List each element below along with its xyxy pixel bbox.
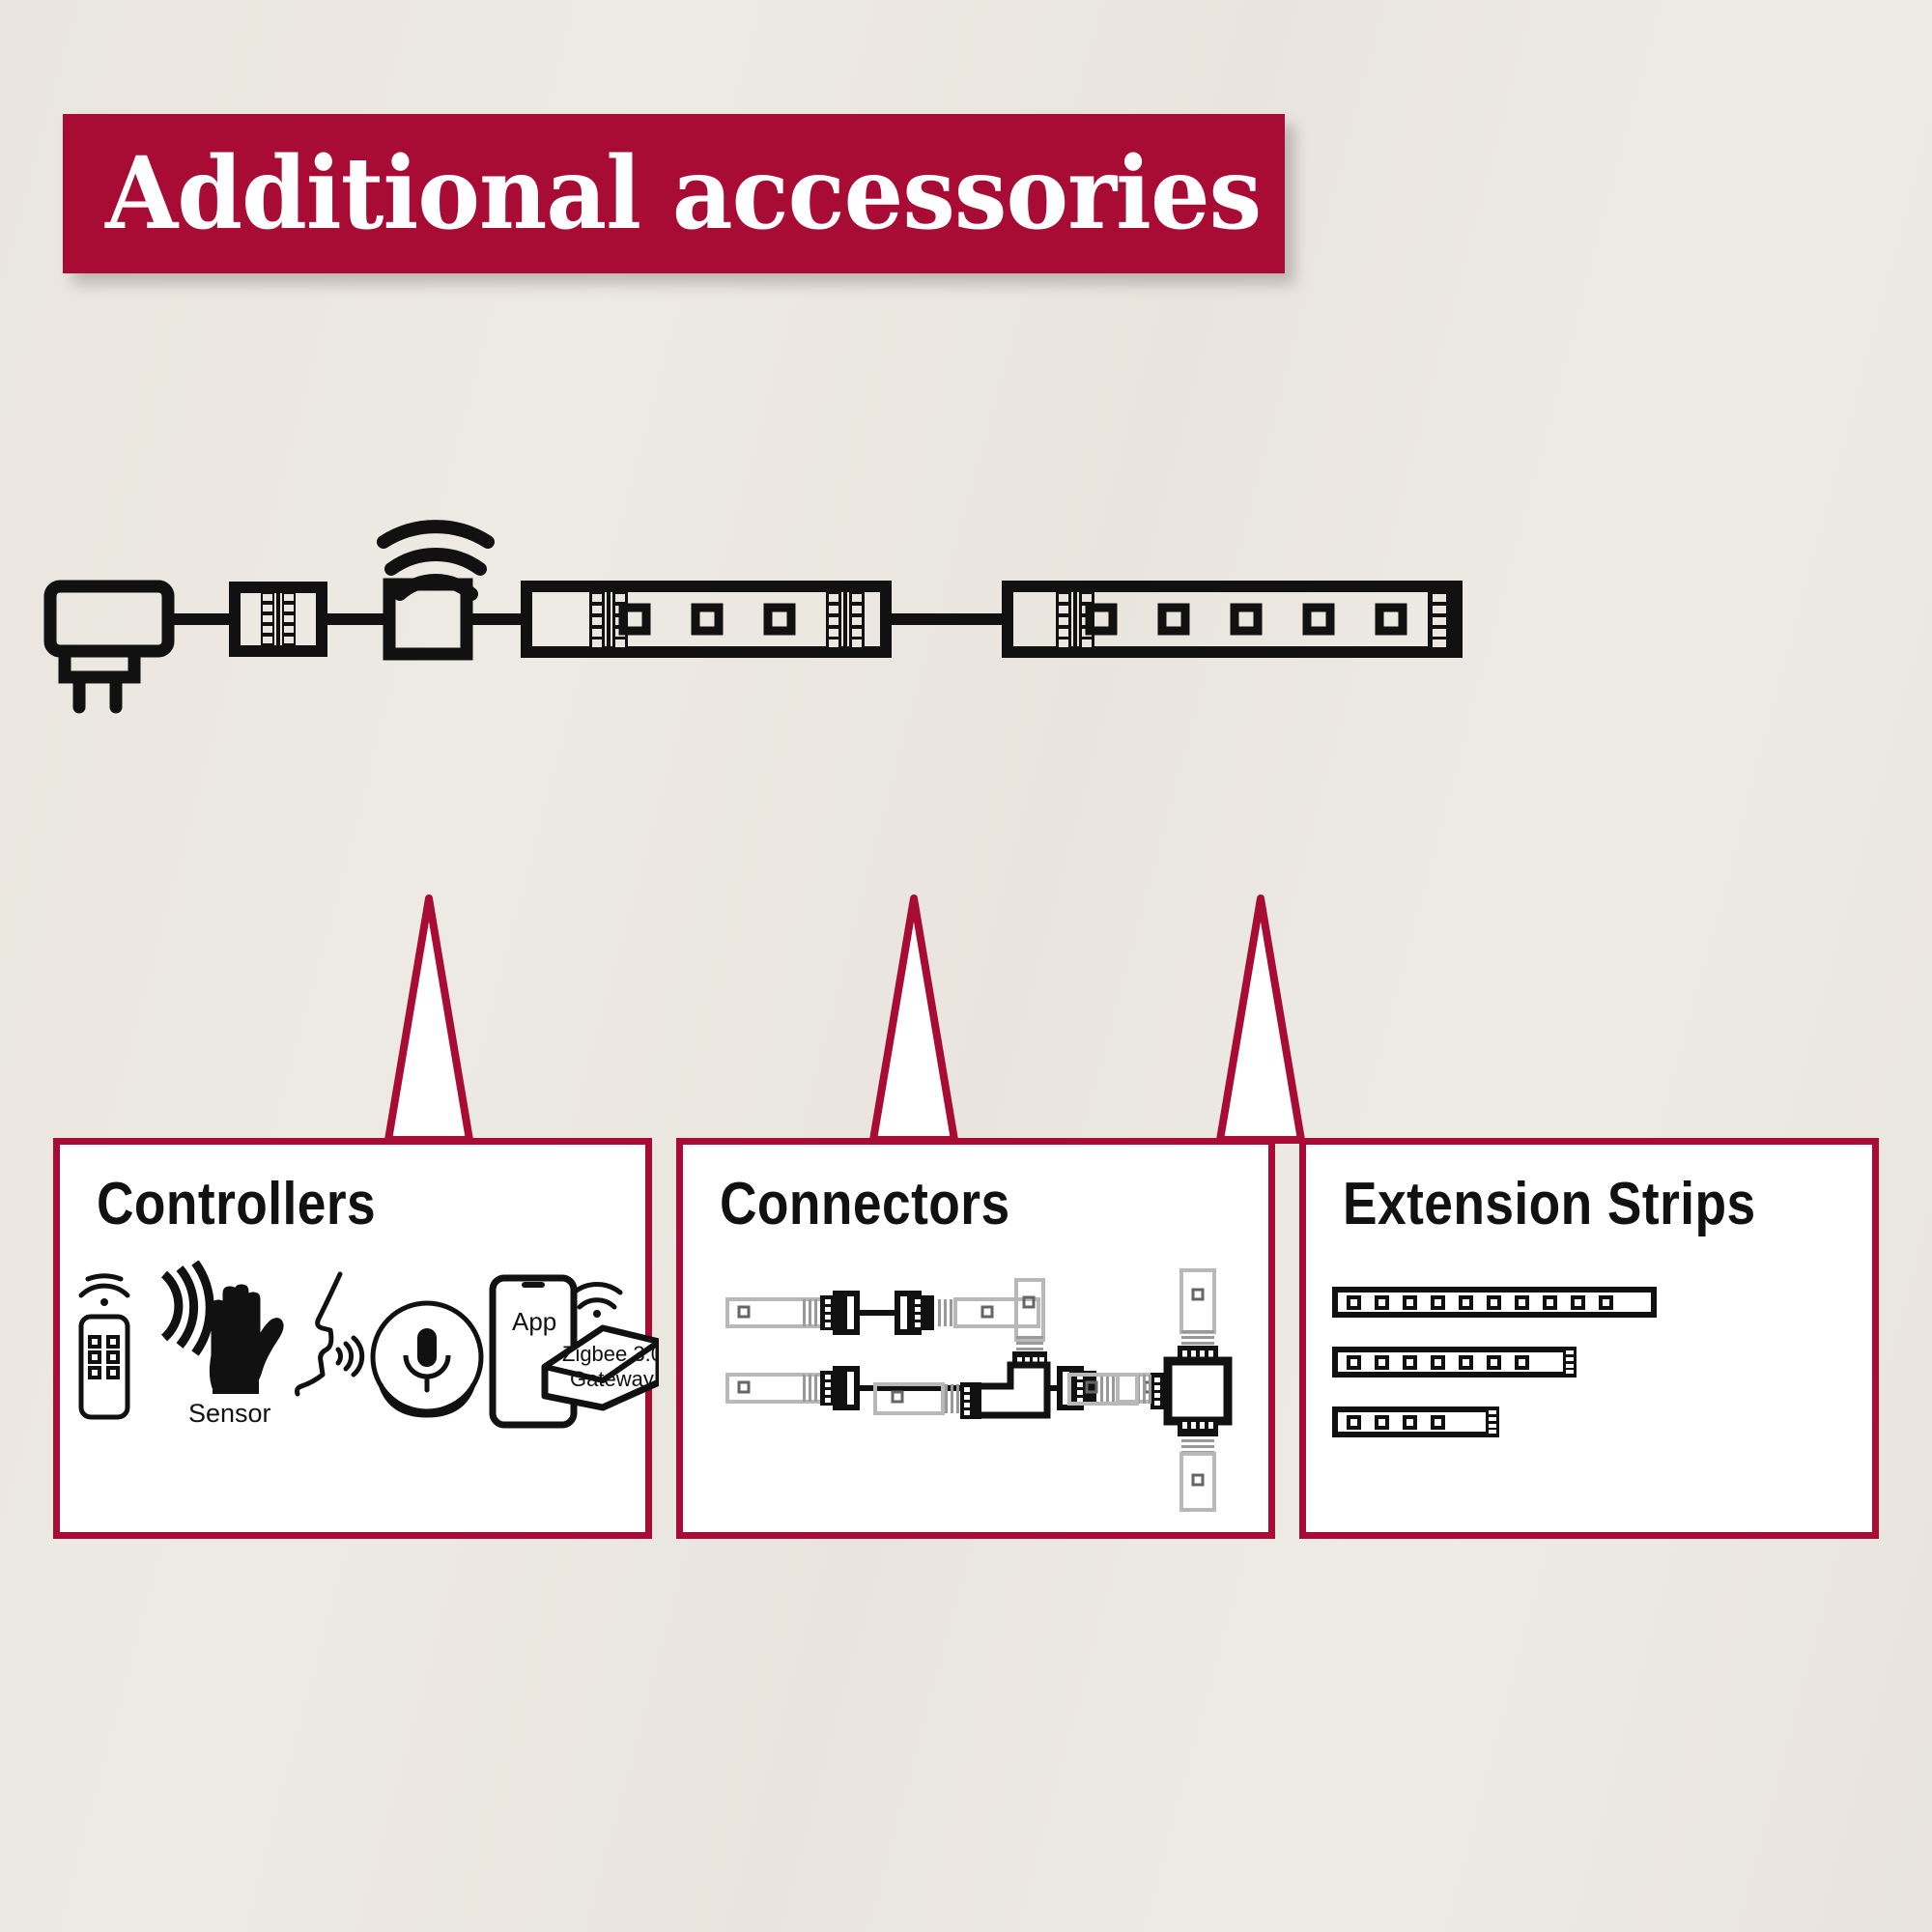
extension-strip-medium: [1335, 1347, 1577, 1378]
controllers-artwork: Sensor: [60, 1261, 645, 1541]
gateway-label-line1: Zigbee 3.0: [562, 1342, 659, 1366]
pointer-connectors: [873, 898, 954, 1140]
category-box-controllers[interactable]: Controllers: [53, 1138, 652, 1539]
led-strip-1-icon: [526, 586, 886, 652]
category-box-connectors[interactable]: Connectors: [676, 1138, 1275, 1539]
voice-control-icon: [298, 1274, 482, 1415]
callout-pointers: [0, 889, 1932, 1150]
category-title-controllers: Controllers: [97, 1170, 376, 1238]
led-system-diagram: [0, 502, 1932, 908]
short-cable-connector-icon: [727, 1293, 1038, 1332]
pointer-extension: [1220, 898, 1301, 1140]
category-box-extension-strips[interactable]: Extension Strips: [1299, 1138, 1879, 1539]
sensor-label: Sensor: [188, 1399, 271, 1428]
page-title: Additional accessories: [63, 135, 1261, 252]
page-header-banner: Additional accessories: [63, 114, 1285, 273]
app-label: App: [512, 1307, 556, 1336]
category-title-extension-strips: Extension Strips: [1343, 1170, 1756, 1238]
category-title-connectors: Connectors: [720, 1170, 1010, 1238]
led-strip-2-icon: [1008, 586, 1457, 652]
power-supply-icon: [50, 586, 168, 707]
pointer-controllers: [388, 898, 469, 1140]
diagram-svg: [0, 502, 1932, 908]
extension-strip-short: [1335, 1406, 1499, 1437]
extension-strip-long: [1335, 1290, 1654, 1315]
connectors-artwork: [683, 1261, 1268, 1541]
extension-strips-artwork: [1306, 1261, 1872, 1541]
motion-sensor-icon: [164, 1263, 282, 1394]
remote-control-icon: [81, 1276, 128, 1417]
strip-connector-1-icon: [235, 587, 322, 651]
gateway-label-line2: Gateway: [570, 1367, 654, 1391]
